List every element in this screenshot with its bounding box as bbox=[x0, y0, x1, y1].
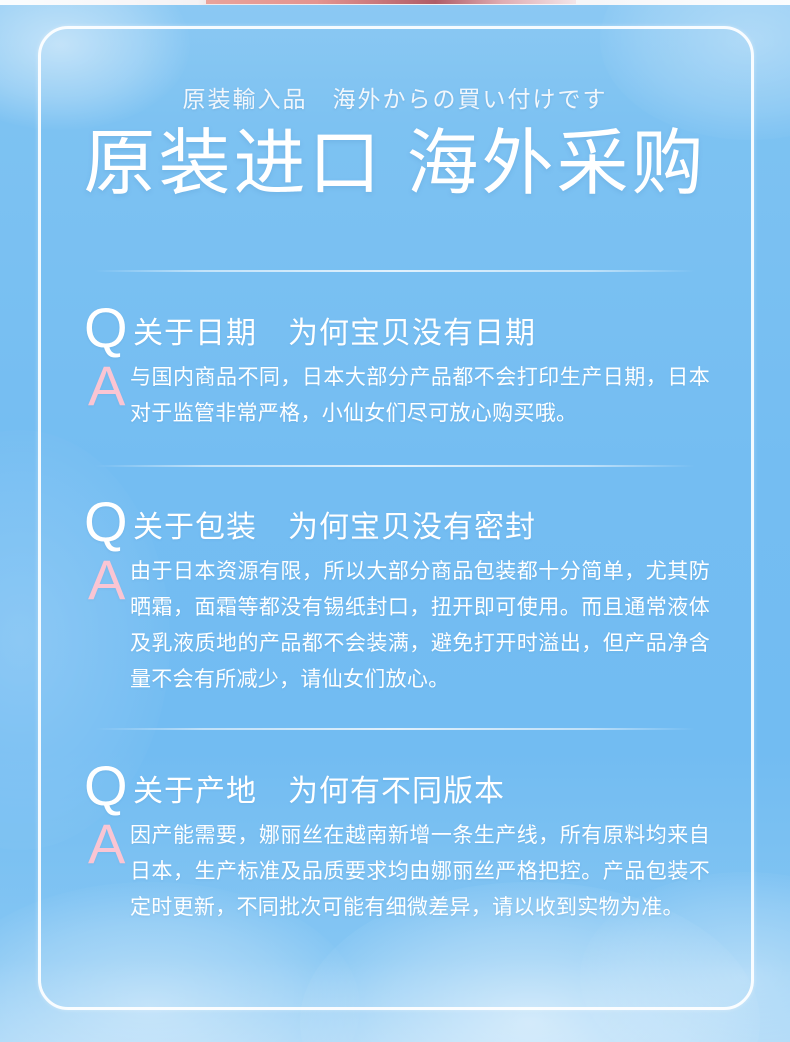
faq-content-layer: 原装輸入品 海外からの買い付けです 原装进口 海外采购 Q 关于日期 为何宝贝没… bbox=[0, 0, 790, 1042]
page-title: 原装进口 海外采购 bbox=[0, 126, 790, 204]
faq-answer-row-2: A 由于日本资源有限，所以大部分商品包装都十分简单，尤其防晒霜，面霜等都没有锡纸… bbox=[0, 554, 790, 708]
faq-item-1[interactable]: Q 关于日期 为何宝贝没有日期 A 与国内商品不同，日本大部分产品都不会打印生产… bbox=[0, 306, 790, 442]
faq-question-row-3: Q 关于产地 为何有不同版本 bbox=[0, 764, 790, 818]
question-mark-icon: Q bbox=[84, 300, 128, 356]
question-mark-icon: Q bbox=[84, 758, 128, 814]
japanese-subtitle: 原装輸入品 海外からの買い付けです bbox=[0, 80, 790, 114]
divider-between-2-3 bbox=[95, 728, 695, 730]
question-mark-icon: Q bbox=[84, 494, 128, 550]
previous-banner-sliver bbox=[0, 0, 790, 5]
faq-question-text-1: 关于日期 为何宝贝没有日期 bbox=[133, 308, 536, 352]
product-detail-faq-page: 原装輸入品 海外からの買い付けです 原装进口 海外采购 Q 关于日期 为何宝贝没… bbox=[0, 0, 790, 1042]
faq-question-text-3: 关于产地 为何有不同版本 bbox=[133, 766, 505, 810]
faq-question-row-2: Q 关于包装 为何宝贝没有密封 bbox=[0, 500, 790, 554]
answer-mark-icon: A bbox=[88, 816, 125, 872]
faq-item-2[interactable]: Q 关于包装 为何宝贝没有密封 A 由于日本资源有限，所以大部分商品包装都十分简… bbox=[0, 500, 790, 708]
previous-banner-accent-stripe bbox=[206, 0, 576, 4]
faq-answer-text-3: 因产能需要，娜丽丝在越南新增一条生产线，所有原料均来自日本，生产标准及品质要求均… bbox=[130, 818, 710, 926]
faq-answer-row-3: A 因产能需要，娜丽丝在越南新增一条生产线，所有原料均来自日本，生产标准及品质要… bbox=[0, 818, 790, 936]
faq-question-text-2: 关于包装 为何宝贝没有密封 bbox=[133, 502, 536, 546]
answer-mark-icon: A bbox=[88, 358, 125, 414]
faq-question-row-1: Q 关于日期 为何宝贝没有日期 bbox=[0, 306, 790, 360]
faq-item-3[interactable]: Q 关于产地 为何有不同版本 A 因产能需要，娜丽丝在越南新增一条生产线，所有原… bbox=[0, 764, 790, 936]
divider-top bbox=[95, 270, 695, 272]
faq-answer-text-2: 由于日本资源有限，所以大部分商品包装都十分简单，尤其防晒霜，面霜等都没有锡纸封口… bbox=[130, 554, 710, 698]
faq-answer-text-1: 与国内商品不同，日本大部分产品都不会打印生产日期，日本对于监管非常严格，小仙女们… bbox=[130, 360, 710, 432]
faq-answer-row-1: A 与国内商品不同，日本大部分产品都不会打印生产日期，日本对于监管非常严格，小仙… bbox=[0, 360, 790, 442]
divider-between-1-2 bbox=[95, 465, 695, 467]
answer-mark-icon: A bbox=[88, 552, 125, 608]
